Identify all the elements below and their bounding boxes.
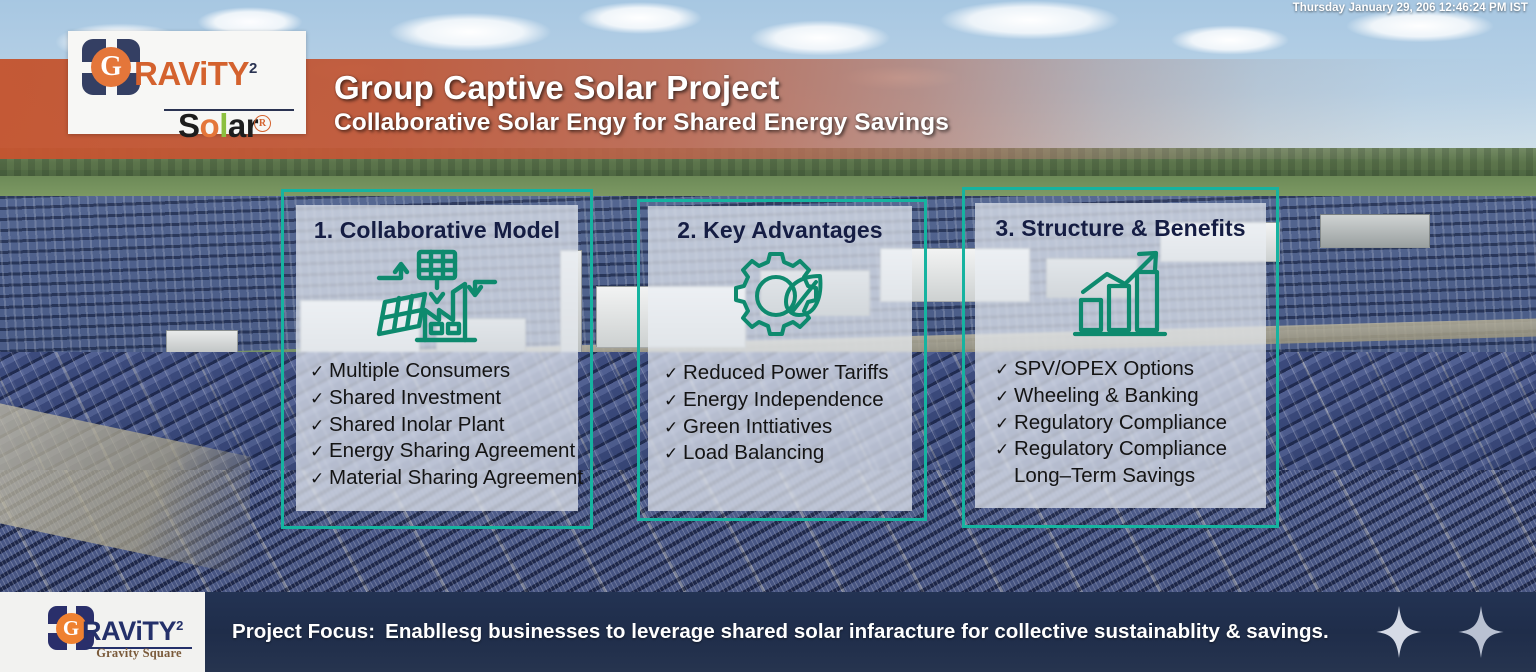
footer-brand-wordmark: RAViTY2	[82, 616, 183, 647]
list-item-label: Regulatory Compliance	[1014, 436, 1227, 462]
timestamp-label: Thursday January 29, 206 12:46:24 PM IST	[1293, 2, 1528, 14]
sparkle-icon	[1458, 606, 1504, 658]
card-3-title: 3. Structure & Benefits	[975, 215, 1266, 242]
footer-lead-label: Project Focus:	[232, 620, 375, 644]
list-item: ✓Wheeling & Banking	[995, 383, 1266, 410]
list-item: ✓Regulatory Compliance	[995, 436, 1266, 463]
list-item: ✓Shared Investment	[310, 385, 578, 412]
list-item-label: Energy Independence	[683, 387, 884, 413]
list-item: ✓Green Inttiatives	[664, 414, 912, 441]
card-structure-benefits[interactable]: 3. Structure & Benefits ✓SPV/OPEX Option…	[975, 203, 1266, 508]
list-item-label: Green Inttiatives	[683, 414, 832, 440]
list-item-label: Reduced Power Tariffs	[683, 360, 889, 386]
list-item-label: Multiple Consumers	[329, 358, 510, 384]
check-icon: ✓	[310, 466, 329, 492]
card-3-list: ✓SPV/OPEX Options ✓Wheeling & Banking ✓R…	[995, 356, 1266, 489]
check-icon: ✓	[664, 441, 683, 467]
list-item: ✓SPV/OPEX Options	[995, 356, 1266, 383]
check-icon: ✓	[310, 386, 329, 412]
list-item-label: Regulatory Compliance	[1014, 410, 1227, 436]
list-item: ✓Material Sharing Agreement	[310, 465, 578, 492]
list-item-label: Material Sharing Agreement	[329, 465, 583, 491]
footer-wordmark-text: RAViTY	[82, 616, 176, 646]
footer-brand-logo[interactable]: G RAViTY2 Gravity Square	[0, 592, 205, 672]
footer-bar: G RAViTY2 Gravity Square Project Focus: …	[0, 592, 1536, 672]
brand-wordmark-text: RAViTY	[134, 55, 249, 92]
list-item-label: Wheeling & Banking	[1014, 383, 1199, 409]
card-2-title: 2. Key Advantages	[648, 217, 912, 244]
list-item-label: Shared Investment	[329, 385, 501, 411]
card-1-icon-wrap	[296, 244, 578, 352]
card-1-title: 1. Collaborative Model	[296, 217, 578, 244]
card-2-list: ✓Reduced Power Tariffs ✓Energy Independe…	[664, 360, 912, 467]
page-subtitle: Collaborative Solar Engy for Shared Ener…	[334, 108, 949, 138]
card-3-icon-wrap	[975, 242, 1266, 346]
list-item-label: Load Balancing	[683, 440, 824, 466]
check-icon: ✓	[310, 439, 329, 465]
logo-letter-g: G	[91, 47, 131, 87]
list-item: ✓Load Balancing	[664, 440, 912, 467]
site-building	[1320, 214, 1430, 248]
gravity-square-mark-icon: G	[82, 39, 140, 95]
check-icon: ✓	[664, 415, 683, 441]
growth-bar-chart-arrow-icon	[1069, 248, 1173, 340]
check-icon: ✓	[310, 413, 329, 439]
list-item-label: Long–Term Savings	[1014, 463, 1195, 489]
check-icon: ✓	[995, 357, 1014, 383]
brand-wordmark: RAViTY2	[134, 55, 257, 93]
check-icon: ✓	[995, 411, 1014, 437]
card-2-icon-wrap	[648, 244, 912, 348]
check-icon: ✓	[995, 437, 1014, 463]
list-item: Long–Term Savings	[995, 463, 1266, 489]
brand-logo[interactable]: G RAViTY2 Solar R	[68, 31, 306, 134]
list-item: ✓Reduced Power Tariffs	[664, 360, 912, 387]
footer-message-group: Project Focus: Enabllesg businesses to l…	[232, 592, 1329, 672]
card-key-advantages[interactable]: 2. Key Advantages ✓Reduced Power Tariffs…	[648, 206, 912, 511]
list-item: ✓Multiple Consumers	[310, 358, 578, 385]
list-item: ✓Energy Sharing Agreement	[310, 438, 578, 465]
header-text-group: Group Captive Solar Project Collaborativ…	[334, 68, 949, 138]
list-item: ✓Energy Independence	[664, 387, 912, 414]
gear-leaf-icon	[724, 250, 836, 342]
list-item-label: Energy Sharing Agreement	[329, 438, 575, 464]
brand-superscript: 2	[249, 60, 257, 77]
brand-product-name: Solar	[178, 107, 258, 145]
list-item-label: SPV/OPEX Options	[1014, 356, 1194, 382]
list-item: ✓Shared Inolar Plant	[310, 412, 578, 439]
card-collaborative-model[interactable]: 1. Collaborative Model	[296, 205, 578, 511]
check-icon: ✓	[664, 388, 683, 414]
check-icon: ✓	[995, 384, 1014, 410]
sparkle-icon	[1376, 606, 1422, 658]
check-icon: ✓	[310, 359, 329, 385]
solar-panel-factory-exchange-icon	[369, 248, 505, 348]
footer-brand-superscript: 2	[176, 618, 183, 633]
check-icon: ✓	[664, 361, 683, 387]
brand-logo-row: G RAViTY2	[82, 39, 257, 95]
list-item: ✓Regulatory Compliance	[995, 410, 1266, 437]
footer-message: Enabllesg businesses to leverage shared …	[385, 620, 1329, 644]
card-1-list: ✓Multiple Consumers ✓Shared Investment ✓…	[310, 358, 578, 492]
list-item-label: Shared Inolar Plant	[329, 412, 505, 438]
slide-canvas: Thursday January 29, 206 12:46:24 PM IST…	[0, 0, 1536, 672]
page-title: Group Captive Solar Project	[334, 68, 949, 108]
footer-brand-tagline: Gravity Square	[74, 646, 204, 661]
registered-mark-icon: R	[254, 115, 271, 132]
